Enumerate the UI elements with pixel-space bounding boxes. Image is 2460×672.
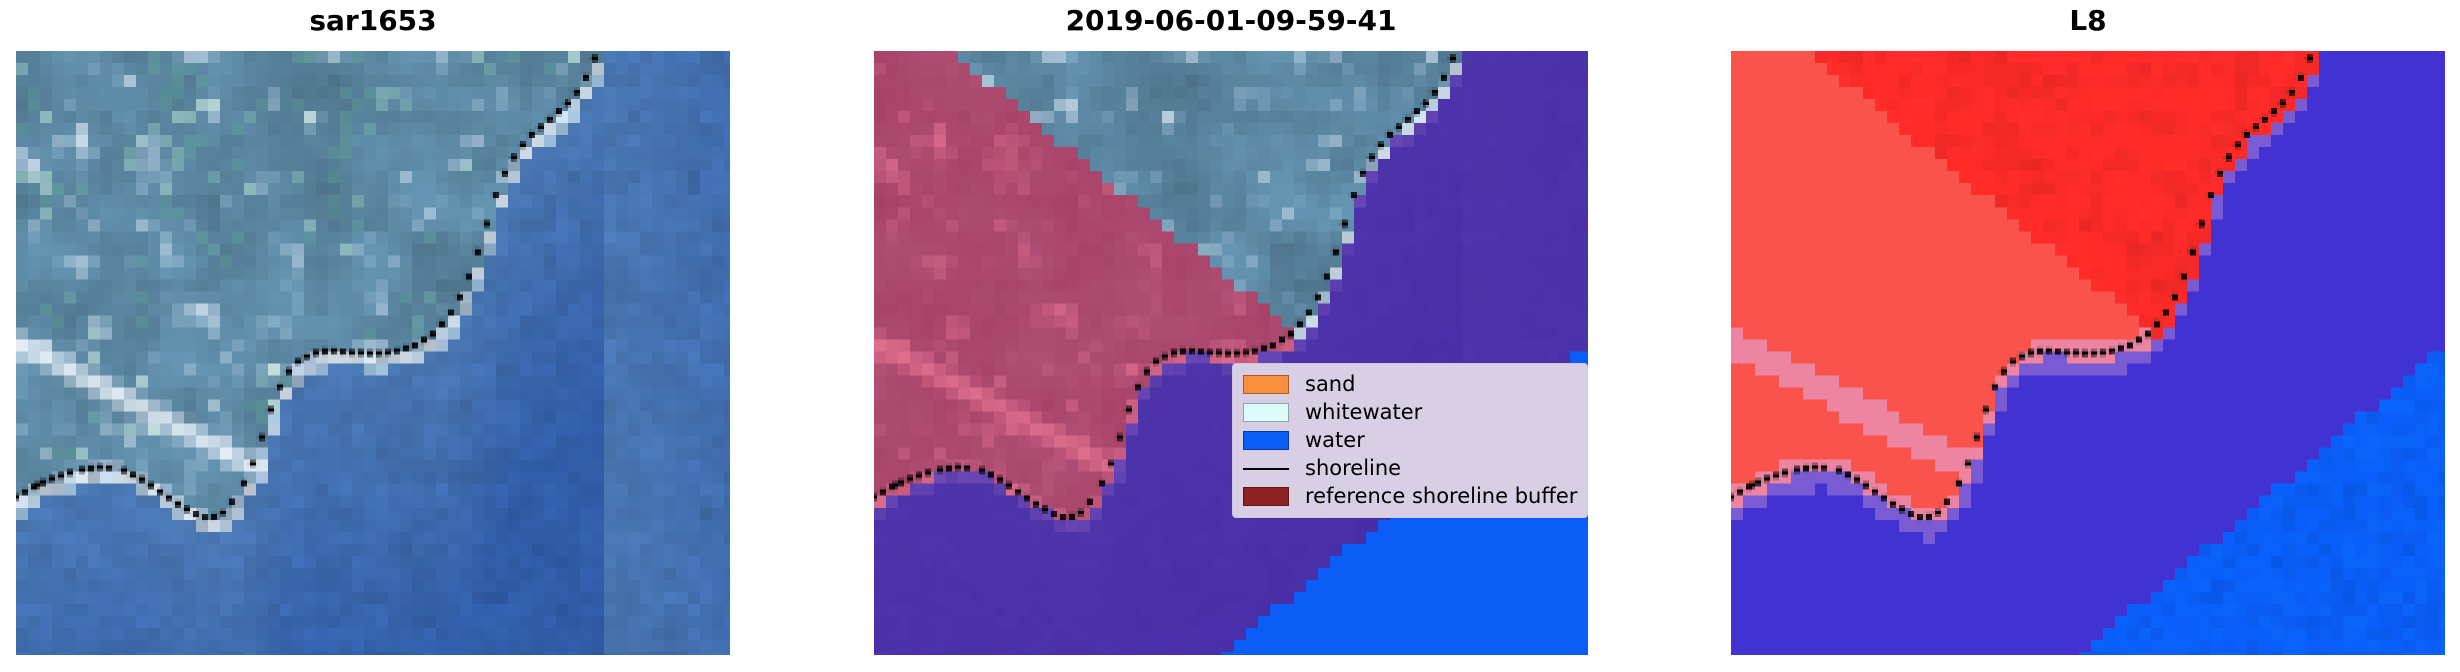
legend-item-whitewater: whitewater xyxy=(1243,398,1577,426)
panel-date-image xyxy=(874,51,1588,655)
panel-l8: L8 xyxy=(1731,0,2445,672)
sand-color-swatch xyxy=(1243,375,1289,394)
legend-item-reference-shoreline-buffer: reference shoreline buffer xyxy=(1243,482,1577,510)
legend-item-shoreline: shoreline xyxy=(1243,454,1577,482)
panel-sar-image xyxy=(16,51,730,655)
legend-label-reference-shoreline-buffer: reference shoreline buffer xyxy=(1305,484,1577,508)
panel-date: 2019-06-01-09-59-41 xyxy=(874,0,1588,672)
panel-l8-image xyxy=(1731,51,2445,655)
panel-date-title: 2019-06-01-09-59-41 xyxy=(874,4,1588,38)
panel-sar: sar1653 xyxy=(16,0,730,672)
legend-item-sand: sand xyxy=(1243,370,1577,398)
figure-root: sar1653 2019-06-01-09-59-41 L8 sand whit… xyxy=(0,0,2460,672)
whitewater-color-swatch xyxy=(1243,403,1289,422)
legend-label-whitewater: whitewater xyxy=(1305,400,1422,424)
legend: sand whitewater water shoreline referenc… xyxy=(1232,363,1588,518)
legend-label-shoreline: shoreline xyxy=(1305,456,1401,480)
water-color-swatch xyxy=(1243,431,1289,450)
panel-l8-title: L8 xyxy=(1731,4,2445,38)
reference-shoreline-buffer-color-swatch xyxy=(1243,487,1289,506)
legend-label-water: water xyxy=(1305,428,1365,452)
shoreline-line-key xyxy=(1243,459,1289,478)
legend-label-sand: sand xyxy=(1305,372,1355,396)
panel-sar-title: sar1653 xyxy=(16,4,730,38)
legend-item-water: water xyxy=(1243,426,1577,454)
